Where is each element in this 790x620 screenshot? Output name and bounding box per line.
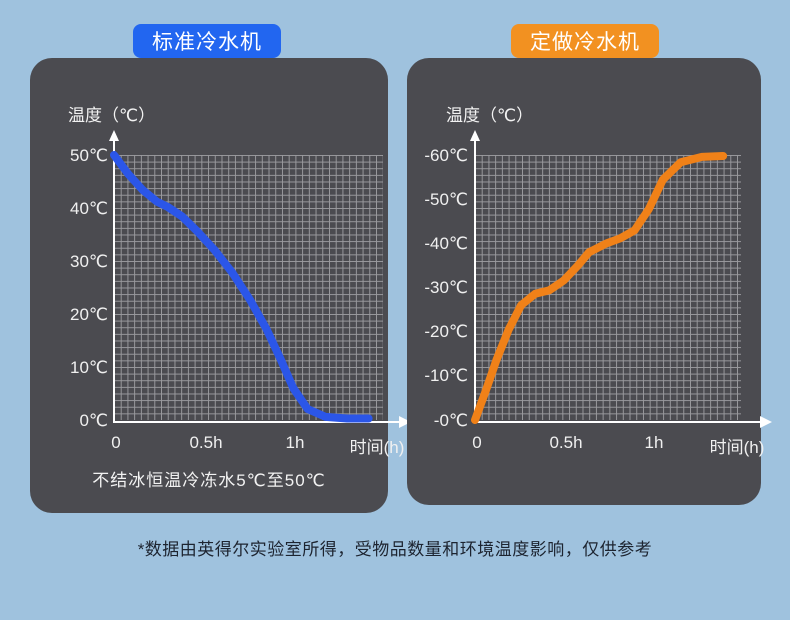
left-chart-x-axis-title: 时间(h) <box>350 433 405 458</box>
left-chart-series-line <box>84 136 402 426</box>
panel-custom-chiller: 温度（℃） -60℃ -50℃ -40℃ -30℃ -20℃ -10℃ -0℃ … <box>407 58 761 505</box>
badge-custom-chiller-label: 定做冷水机 <box>530 26 640 56</box>
right-chart-ytick-n0: -0℃ <box>393 411 468 431</box>
right-chart-xtick-1h: 1h <box>645 433 664 453</box>
left-chart-xtick-05h: 0.5h <box>189 433 222 453</box>
right-chart-ytick-n50: -50℃ <box>393 190 468 210</box>
panel-standard-chiller: 温度（℃） 50℃ 40℃ 30℃ 20℃ 10℃ 0℃ 0 0.5h 1h 时… <box>30 58 388 513</box>
left-chart-caption: 不结冰恒温冷冻水5℃至50℃ <box>30 466 388 491</box>
right-chart-plot-area: -60℃ -50℃ -40℃ -30℃ -20℃ -10℃ -0℃ 0 0.5h… <box>466 136 782 426</box>
right-chart-series-line <box>466 136 782 426</box>
left-chart-plot-area: 50℃ 40℃ 30℃ 20℃ 10℃ 0℃ 0 0.5h 1h 时间(h) <box>84 136 402 426</box>
left-chart-xtick-1h: 1h <box>286 433 305 453</box>
badge-standard-chiller: 标准冷水机 <box>133 24 281 58</box>
right-chart-ytick-n60: -60℃ <box>393 146 468 166</box>
infographic-root: 标准冷水机 定做冷水机 温度（℃） 50℃ 40℃ 30℃ 20℃ 10℃ 0℃… <box>0 0 790 620</box>
footnote: *数据由英得尔实验室所得，受物品数量和环境温度影响，仅供参考 <box>0 535 790 560</box>
right-chart-xtick-0: 0 <box>472 433 481 453</box>
badge-standard-chiller-label: 标准冷水机 <box>152 26 262 56</box>
left-chart-xtick-0: 0 <box>111 433 120 453</box>
right-chart-xtick-05h: 0.5h <box>549 433 582 453</box>
right-chart-ytick-n40: -40℃ <box>393 234 468 254</box>
right-chart-x-axis-title: 时间(h) <box>710 433 765 458</box>
badge-custom-chiller: 定做冷水机 <box>511 24 659 58</box>
right-chart-ytick-n10: -10℃ <box>393 366 468 386</box>
right-chart-ytick-n30: -30℃ <box>393 278 468 298</box>
left-chart-y-axis-title: 温度（℃） <box>68 101 155 126</box>
right-chart-y-axis-title: 温度（℃） <box>446 101 533 126</box>
right-chart-ytick-n20: -20℃ <box>393 322 468 342</box>
